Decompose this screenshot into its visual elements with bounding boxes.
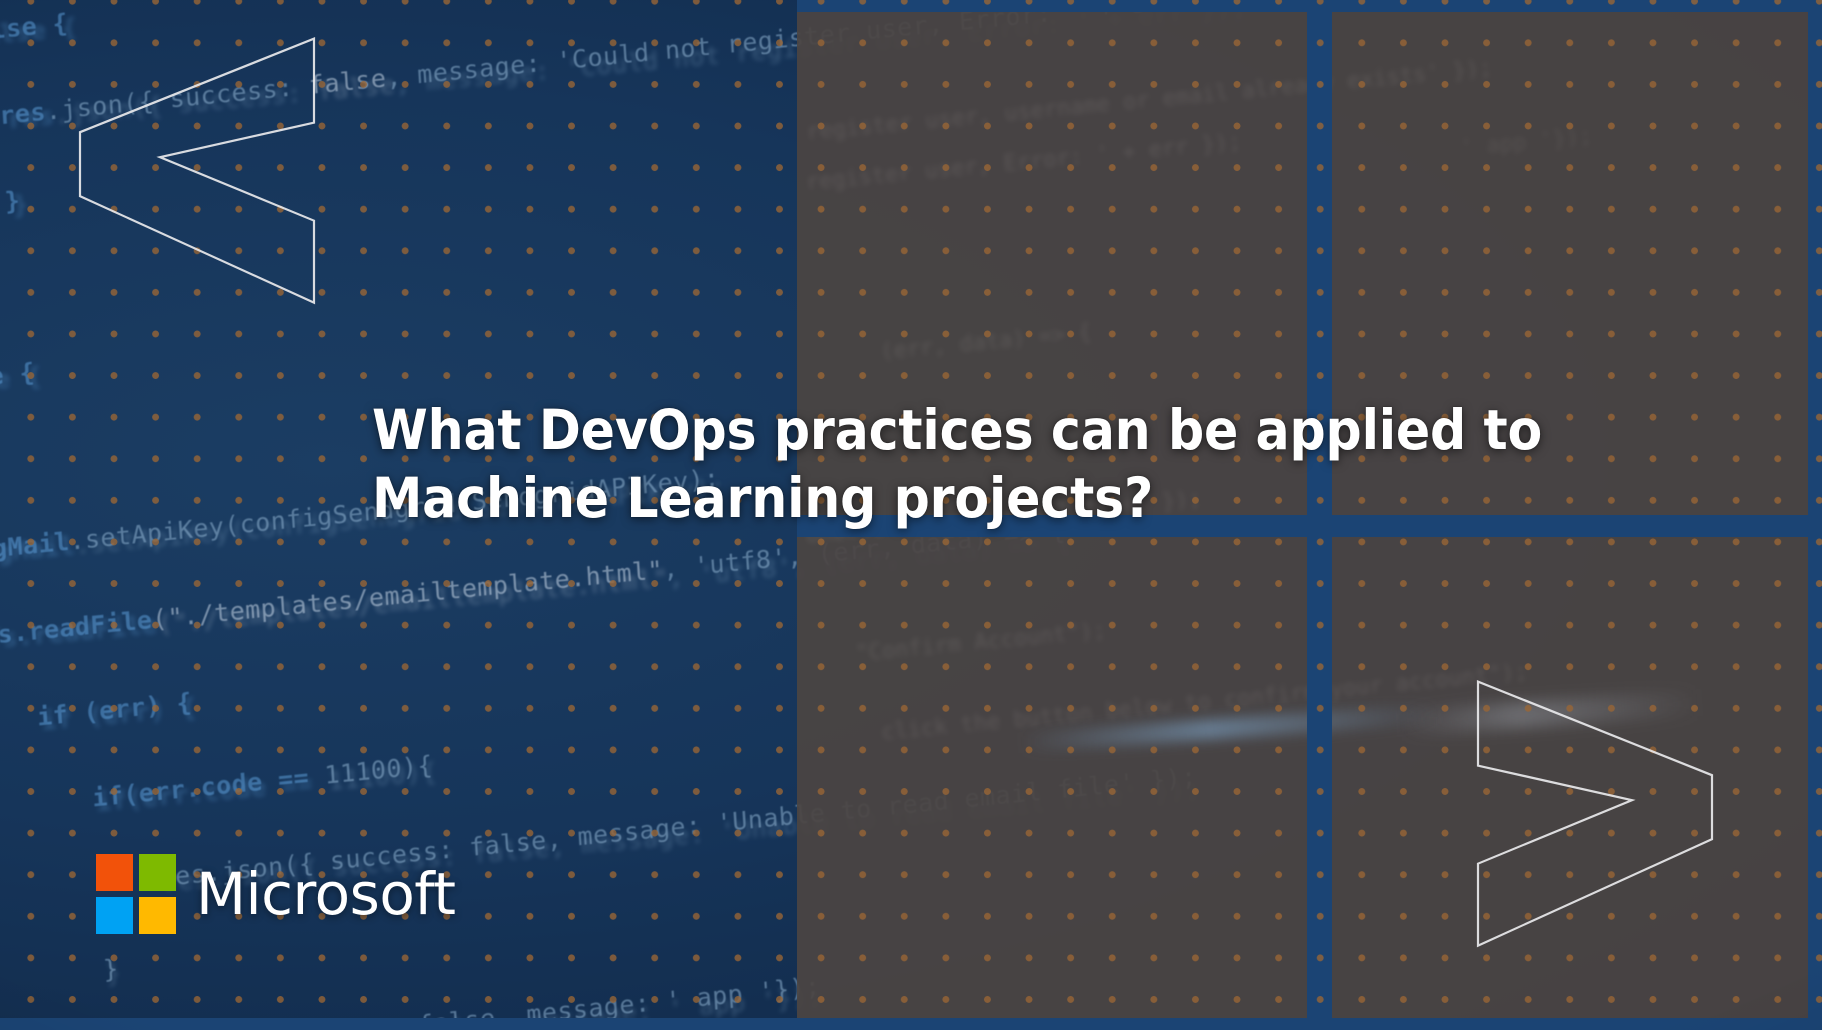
grid-divider-right-edge	[1808, 0, 1822, 1030]
title-line-1: What DevOps practices can be applied to	[372, 396, 1458, 464]
logo-square-orange	[96, 854, 133, 891]
microsoft-logo-icon	[96, 854, 176, 934]
photo-panel-bottom-right	[1332, 537, 1808, 1018]
microsoft-wordmark: Microsoft	[196, 865, 455, 923]
grid-divider-bottom	[0, 1018, 1822, 1030]
slide-title: What DevOps practices can be applied to …	[372, 396, 1458, 532]
title-line-2: Machine Learning projects?	[372, 464, 1458, 532]
photo-panel-bottom-left	[797, 537, 1307, 1018]
logo-square-green	[139, 854, 176, 891]
logo-square-yellow	[139, 897, 176, 934]
slide-canvas: res.json({ success: false, message: 'Cou…	[0, 0, 1822, 1030]
microsoft-logo: Microsoft	[96, 854, 455, 934]
logo-square-blue	[96, 897, 133, 934]
